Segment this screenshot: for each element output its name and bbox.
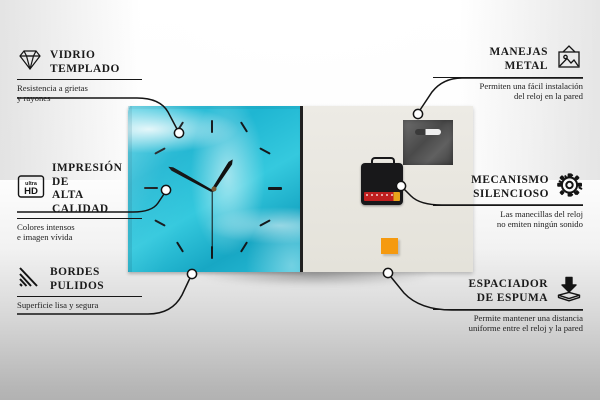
picture-frame-hook-icon [555, 44, 583, 75]
feature-manejas-metal[interactable]: MANEJAS METAL Permiten una fácil instala… [433, 44, 583, 101]
clock-mechanism [361, 163, 403, 205]
clock-center-hub [212, 187, 217, 192]
product-image [128, 106, 473, 272]
feature-header: BORDES PULIDOS [17, 265, 142, 294]
mechanism-hook [371, 157, 395, 167]
feature-header: MANEJAS METAL [433, 44, 583, 75]
hanger-slot [415, 129, 441, 135]
feature-description: Permiten una fácil instalación del reloj… [433, 81, 583, 102]
feature-title: ESPACIADOR DE ESPUMA [469, 278, 548, 305]
feature-divider [17, 79, 142, 80]
svg-text:HD: HD [24, 186, 38, 197]
feature-mecanismo-silencioso[interactable]: MECANISMO SILENCIOSO [433, 172, 583, 229]
feature-header: ESPACIADOR DE ESPUMA [433, 276, 583, 307]
feature-title: MANEJAS METAL [489, 46, 548, 73]
feature-header: VIDRIO TEMPLADO [17, 48, 142, 77]
feature-description: Las manecillas del reloj no emiten ningú… [433, 209, 583, 230]
infographic-stage: VIDRIO TEMPLADO Resistencia a grietas y … [0, 0, 600, 400]
battery [364, 192, 400, 201]
feature-header: ultra HD IMPRESIÓN DE ALTA CALIDAD [17, 162, 142, 216]
diamond-icon [17, 48, 43, 77]
feature-title: BORDES PULIDOS [50, 266, 104, 293]
feature-impresion-alta-calidad[interactable]: ultra HD IMPRESIÓN DE ALTA CALIDAD Color… [17, 162, 142, 242]
feature-description: Permite mantener una distancia uniforme … [433, 313, 583, 334]
clock-front-panel [128, 106, 303, 272]
ultra-hd-icon: ultra HD [17, 174, 45, 204]
feature-divider [433, 309, 583, 310]
feature-title: VIDRIO TEMPLADO [50, 49, 120, 76]
feature-divider [433, 205, 583, 206]
foam-spacer-arrow-icon [555, 276, 583, 307]
feature-divider [433, 77, 583, 78]
feature-header: MECANISMO SILENCIOSO [433, 172, 583, 203]
polished-edges-icon [17, 265, 43, 294]
feature-description: Superficie lisa y segura [17, 300, 142, 310]
feature-description: Colores intensos e imagen vívida [17, 222, 142, 243]
feature-bordes-pulidos[interactable]: BORDES PULIDOS Superficie lisa y segura [17, 265, 142, 310]
feature-title: IMPRESIÓN DE ALTA CALIDAD [52, 162, 142, 216]
metal-hanger-plate [403, 120, 453, 165]
mechanism-indicator [396, 183, 399, 186]
feature-espaciador-de-espuma[interactable]: ESPACIADOR DE ESPUMA Permite mantener un… [433, 276, 583, 333]
feature-divider [17, 296, 142, 297]
foam-spacer-pad [381, 238, 398, 254]
gear-icon [556, 172, 583, 203]
feature-title: MECANISMO SILENCIOSO [471, 174, 549, 201]
feature-divider [17, 218, 142, 219]
feature-description: Resistencia a grietas y rayones [17, 83, 142, 104]
feature-vidrio-templado[interactable]: VIDRIO TEMPLADO Resistencia a grietas y … [17, 48, 142, 103]
